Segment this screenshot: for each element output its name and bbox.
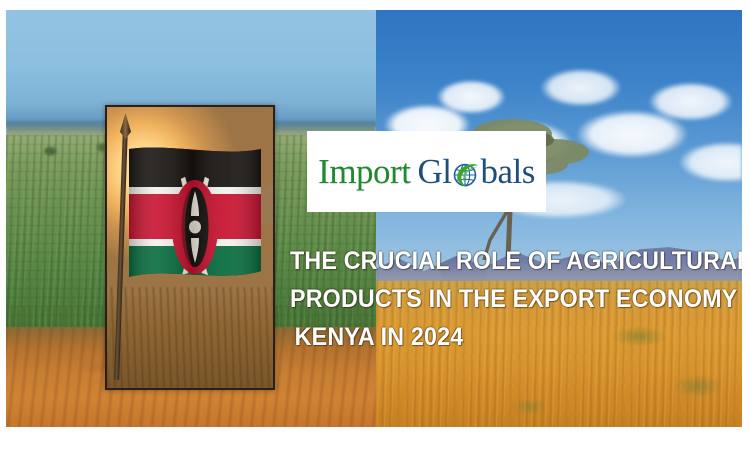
- banner-artboard: Import Gl: [6, 10, 742, 427]
- globe-icon: [451, 160, 481, 190]
- kenya-flag-photo: [105, 105, 275, 390]
- headline: THE CRUCIAL ROLE OF AGRICULTURAL PRODUCT…: [290, 242, 742, 356]
- logo-word-bals: bals: [480, 154, 534, 189]
- import-globals-logo[interactable]: Import Gl: [307, 131, 546, 212]
- headline-line-3: KENYA IN 2024: [290, 318, 710, 356]
- logo-word-import: Import: [318, 154, 410, 189]
- logo-word-gl: Gl: [417, 154, 451, 189]
- headline-line-2: PRODUCTS IN THE EXPORT ECONOMY OF: [290, 280, 710, 318]
- headline-line-1: THE CRUCIAL ROLE OF AGRICULTURAL: [290, 242, 710, 280]
- article-hero-banner: Import Gl: [0, 0, 750, 450]
- photo-acacia-savanna: [376, 10, 742, 427]
- logo-wordmark: Import Gl: [318, 154, 535, 189]
- kenya-flag-icon: [127, 143, 263, 311]
